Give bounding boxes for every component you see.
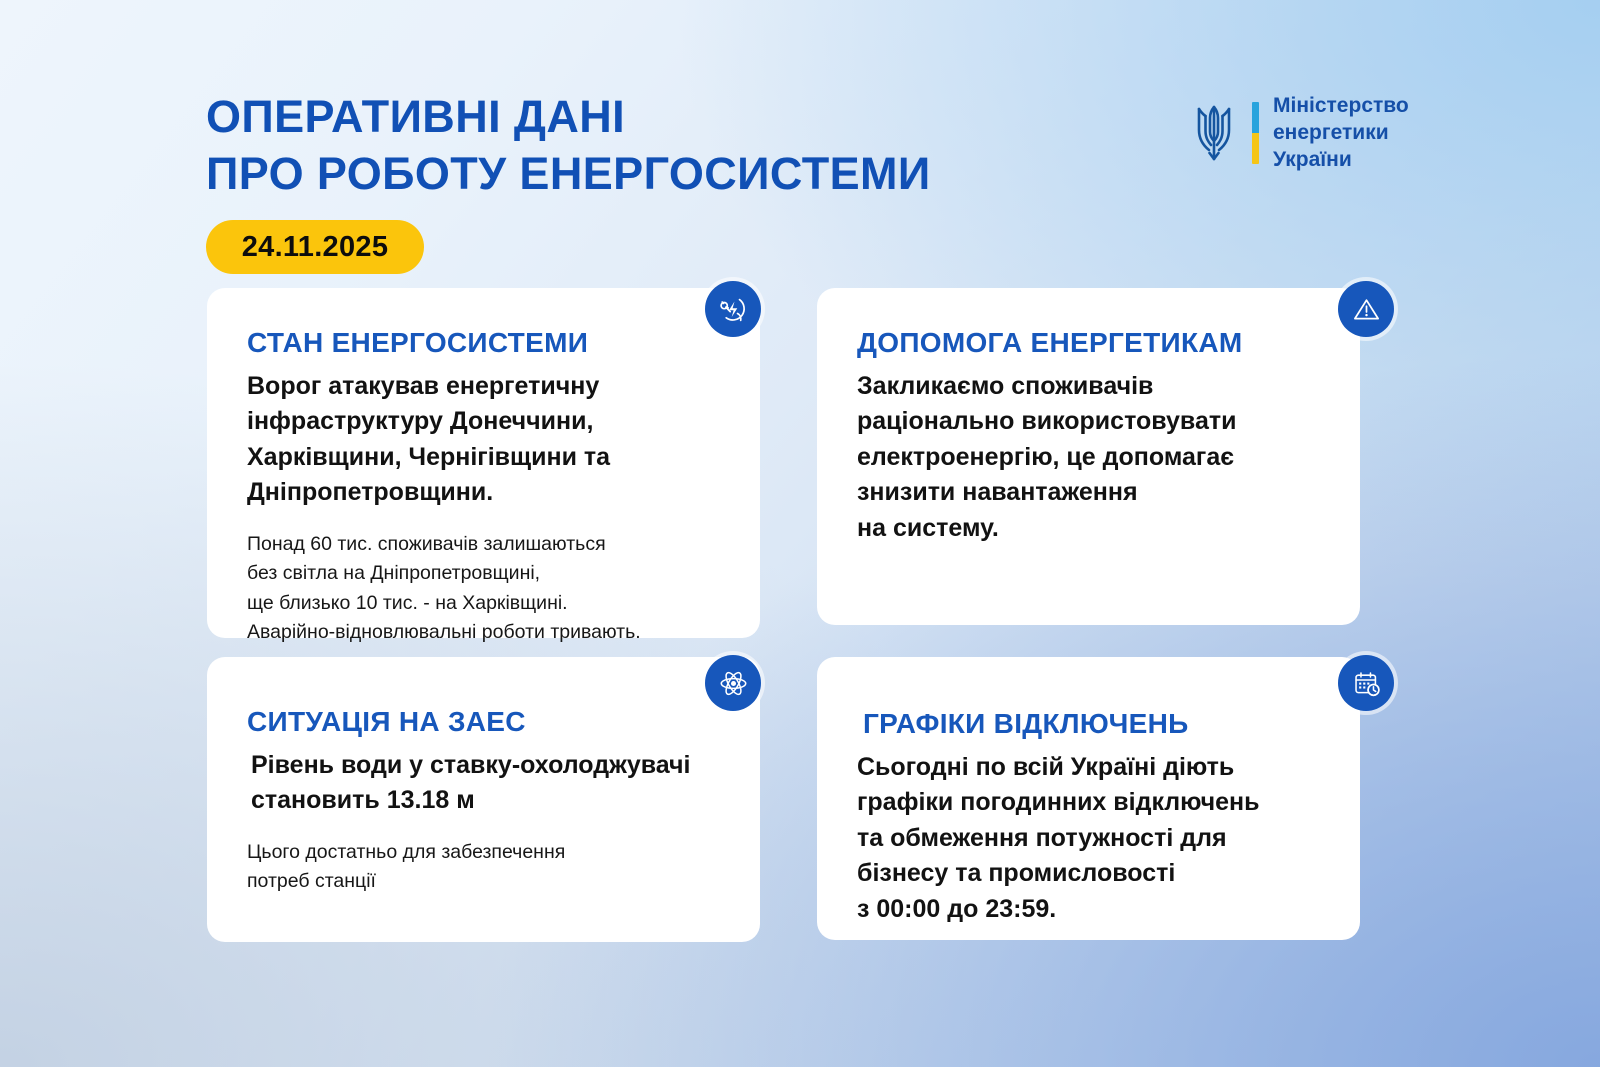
card-schedule-heading: ГРАФІКИ ВІДКЛЮЧЕНЬ — [857, 707, 1320, 741]
card-energy-state: СТАН ЕНЕРГОСИСТЕМИ Ворог атакував енерге… — [207, 288, 760, 638]
lead-line: Харківщини, Чернігівщини та — [247, 440, 720, 476]
note-line: без світла на Дніпропетровщині, — [247, 559, 720, 589]
card-zaes-situation: СИТУАЦІЯ НА ЗАЕС Рівень води у ставку-ох… — [207, 657, 760, 942]
lead-line: інфраструктуру Донеччини, — [247, 404, 720, 440]
card-energy-state-lead: Ворог атакував енергетичну інфраструктур… — [247, 369, 720, 511]
lead-line: бізнесу та промисловості — [857, 856, 1320, 892]
lead-line: Дніпропетровщини. — [247, 475, 720, 511]
lead-line: з 00:00 до 23:59. — [857, 892, 1320, 928]
date-badge-label: 24.11.2025 — [242, 231, 389, 264]
tryzub-icon — [1190, 100, 1238, 166]
lead-line: раціонально використовувати — [857, 404, 1320, 440]
logo-line-1: Міністерство — [1273, 93, 1409, 120]
logo-line-3: України — [1273, 147, 1409, 174]
logo-text: Міністерство енергетики України — [1273, 93, 1409, 174]
ministry-logo: Міністерство енергетики України — [1190, 93, 1409, 174]
card-zaes-note: Цього достатньо для забезпечення потреб … — [247, 838, 720, 897]
lead-line: графіки погодинних відключень — [857, 785, 1320, 821]
logo-divider — [1252, 102, 1259, 164]
card-energy-state-heading: СТАН ЕНЕРГОСИСТЕМИ — [247, 326, 720, 360]
note-line: потреб станції — [247, 867, 720, 897]
lead-line: електроенергію, це допомагає — [857, 440, 1320, 476]
lead-line: Ворог атакував енергетичну — [247, 369, 720, 405]
date-badge: 24.11.2025 — [206, 220, 424, 274]
lead-line: Рівень води у ставку-охолоджувачі — [251, 748, 720, 784]
warning-triangle-icon — [1338, 281, 1394, 337]
lead-line: Закликаємо споживачів — [857, 369, 1320, 405]
note-line: Понад 60 тис. споживачів залишаються — [247, 530, 720, 560]
note-line: Аварійно-відновлювальні роботи тривають. — [247, 618, 720, 648]
card-help-lead: Закликаємо споживачів раціонально викори… — [857, 369, 1320, 547]
logo-line-2: енергетики — [1273, 120, 1409, 147]
card-zaes-heading: СИТУАЦІЯ НА ЗАЕС — [247, 705, 720, 739]
plug-lightning-icon — [705, 281, 761, 337]
card-help-heading: ДОПОМОГА ЕНЕРГЕТИКАМ — [857, 326, 1320, 360]
lead-line: на систему. — [857, 511, 1320, 547]
card-outage-schedules: ГРАФІКИ ВІДКЛЮЧЕНЬ Сьогодні по всій Укра… — [817, 657, 1360, 940]
card-energy-state-note: Понад 60 тис. споживачів залишаються без… — [247, 530, 720, 649]
card-help-to-energy-workers: ДОПОМОГА ЕНЕРГЕТИКАМ Закликаємо споживач… — [817, 288, 1360, 625]
calendar-clock-icon — [1338, 655, 1394, 711]
lead-line: становить 13.18 м — [251, 783, 720, 819]
card-zaes-lead: Рівень води у ставку-охолоджувачі станов… — [247, 748, 720, 819]
lead-line: знизити навантаження — [857, 475, 1320, 511]
card-schedule-lead: Сьогодні по всій Україні діють графіки п… — [857, 750, 1320, 928]
lead-line: та обмеження потужності для — [857, 821, 1320, 857]
note-line: Цього достатньо для забезпечення — [247, 838, 720, 868]
lead-line: Сьогодні по всій Україні діють — [857, 750, 1320, 786]
atom-icon — [705, 655, 761, 711]
note-line: ще близько 10 тис. - на Харківщині. — [247, 589, 720, 619]
